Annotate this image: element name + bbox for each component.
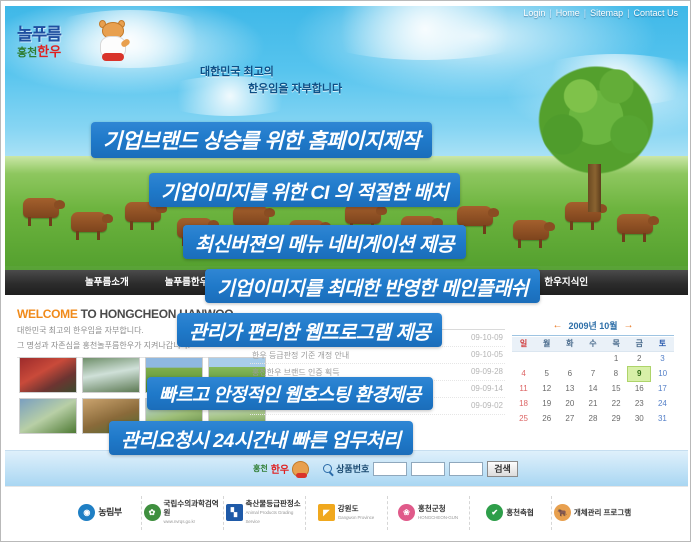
ministry-seal-icon: ◉: [78, 504, 95, 521]
partner-logo-subtitle: Gangwon Province: [338, 513, 374, 522]
calendar-widget: ← 2009년 10월 → 일 월 화 수 목 금 토: [512, 319, 674, 426]
grading-service-icon: ▚: [226, 504, 243, 521]
calendar-day[interactable]: 3: [651, 351, 674, 366]
search-icon: [323, 464, 332, 473]
calendar-week-row: 18 19 20 21 22 23 24: [512, 396, 674, 411]
calendar-day[interactable]: 12: [535, 381, 558, 396]
partner-logo-management-program[interactable]: 🐂 개체관리 프로그램: [552, 496, 634, 530]
nav-sitemap[interactable]: Sitemap: [590, 8, 623, 18]
cow-illustration: [513, 220, 549, 240]
calendar-day[interactable]: 2: [628, 351, 651, 366]
nav-separator: |: [549, 8, 551, 18]
cow-mascot-icon: 🐂: [554, 504, 571, 521]
overlay-banner-6: 빠르고 안정적인 웹호스팅 환경제공: [147, 377, 433, 410]
cow-mascot-icon: [292, 461, 309, 477]
calendar-day[interactable]: 20: [558, 396, 581, 411]
hero-slogan-line1: 대한민국 최고의: [200, 64, 342, 81]
window-frame: 대한민국 최고의 한우임을 자부합니다 Login | Home | Sitem…: [0, 0, 691, 542]
calendar-day-today[interactable]: 9: [628, 366, 651, 381]
partner-logo-label: 국립수의과학검역원www.nvrqs.go.kr: [164, 499, 221, 526]
search-label: 상품번호: [336, 462, 369, 475]
calendar-day[interactable]: [558, 351, 581, 366]
calendar-day[interactable]: 18: [512, 396, 535, 411]
calendar-day[interactable]: 31: [651, 411, 674, 426]
nav-home[interactable]: Home: [556, 8, 580, 18]
calendar-day[interactable]: 29: [605, 411, 628, 426]
partner-logo-hongcheon-chukhyup[interactable]: ✔ 홍천축협: [470, 496, 552, 530]
calendar-title: 2009년 10월: [568, 319, 617, 332]
calendar-day[interactable]: 16: [628, 381, 651, 396]
overlay-banner-7: 관리요청시 24시간내 빠른 업무처리: [109, 421, 413, 455]
calendar-day[interactable]: 13: [558, 381, 581, 396]
overlay-banner-1: 기업브랜드 상승를 위한 홈페이지제작: [91, 122, 432, 158]
calendar-day[interactable]: 27: [558, 411, 581, 426]
notice-date: 09-09-02: [465, 401, 503, 412]
calendar-day[interactable]: 14: [581, 381, 604, 396]
calendar-day[interactable]: 1: [605, 351, 628, 366]
logo-text: 놀푸름 홍천한우: [17, 26, 95, 59]
partner-logo-subtitle: Animal Products Grading Service: [246, 508, 303, 526]
partner-logo-hongcheon-gun[interactable]: ❀ 홍천군청HONGCHEON-GUN: [388, 496, 470, 530]
partner-logo-label: 농림부: [98, 508, 121, 517]
site-logo[interactable]: 놀푸름 홍천한우: [17, 15, 132, 69]
calendar-weekday-row: 일 월 화 수 목 금 토: [512, 337, 674, 351]
product-search-bar: 홍천 한우 상품번호 검색: [5, 450, 688, 486]
partner-logo-label: 개체관리 프로그램: [574, 508, 631, 517]
welcome-title-highlight: WELCOME: [17, 307, 78, 321]
calendar-week-row: 25 26 27 28 29 30 31: [512, 411, 674, 426]
search-controls: 상품번호 검색: [323, 461, 518, 477]
logo-main-text: 놀푸름: [17, 26, 95, 43]
calendar-weekday: 월: [535, 337, 558, 351]
hero-slogan: 대한민국 최고의 한우임을 자부합니다: [200, 64, 342, 98]
calendar-day[interactable]: 8: [605, 366, 628, 381]
notice-title: 한우 등급판정 기준 개정 안내: [252, 350, 349, 361]
hero-slogan-line2: 한우임을 자부합니다: [248, 81, 342, 98]
calendar-week-row: 1 2 3: [512, 351, 674, 366]
calendar-day[interactable]: [535, 351, 558, 366]
utility-nav: Login | Home | Sitemap | Contact Us: [523, 8, 678, 18]
partner-logo-label: 강원도Gangwon Province: [338, 504, 374, 522]
nav-login[interactable]: Login: [523, 8, 545, 18]
calendar-day[interactable]: 22: [605, 396, 628, 411]
calendar-day[interactable]: 26: [535, 411, 558, 426]
logo-sub-left: 홍천: [17, 47, 37, 59]
calendar-weekday: 토: [651, 337, 674, 351]
calendar-day[interactable]: 28: [581, 411, 604, 426]
calendar-day[interactable]: 15: [605, 381, 628, 396]
chukhyup-icon: ✔: [486, 504, 503, 521]
partner-logo-label: 축산물등급판정소Animal Products Grading Service: [246, 499, 303, 526]
calendar-day[interactable]: 11: [512, 381, 535, 396]
product-number-input-1[interactable]: [373, 462, 407, 476]
calendar-weekday: 금: [628, 337, 651, 351]
nav-item-intro[interactable]: 놀푸름소개: [67, 270, 147, 295]
cow-mascot-icon: [96, 22, 130, 62]
calendar-day[interactable]: 17: [651, 381, 674, 396]
tree-canopy: [532, 60, 660, 180]
calendar-week-row: 11 12 13 14 15 16 17: [512, 381, 674, 396]
calendar-day[interactable]: 19: [535, 396, 558, 411]
partner-logos-footer: ◉ 농림부 ✿ 국립수의과학검역원www.nvrqs.go.kr ▚ 축산물등급…: [5, 486, 688, 538]
partner-logo-nongrimbu[interactable]: ◉ 농림부: [60, 496, 142, 530]
notice-date: 09-09-28: [465, 367, 503, 378]
cow-illustration: [71, 212, 107, 232]
logo-sub-right: 한우: [37, 44, 61, 59]
calendar-day[interactable]: 4: [512, 366, 535, 381]
nav-separator: |: [627, 8, 629, 18]
overlay-banner-2: 기업이미지를 위한 CI 의 적절한 배치: [149, 173, 460, 207]
calendar-day[interactable]: 21: [581, 396, 604, 411]
calendar-day[interactable]: 23: [628, 396, 651, 411]
nav-contact-us[interactable]: Contact Us: [633, 8, 678, 18]
cow-illustration: [345, 204, 381, 224]
product-number-input-3[interactable]: [449, 462, 483, 476]
calendar-day[interactable]: 7: [581, 366, 604, 381]
calendar-day[interactable]: [512, 351, 535, 366]
calendar-day[interactable]: [581, 351, 604, 366]
partner-logo-gangwon[interactable]: ◤ 강원도Gangwon Province: [306, 496, 388, 530]
tree-illustration: [532, 60, 660, 208]
calendar-weekday: 화: [558, 337, 581, 351]
gallery-thumbnail[interactable]: [19, 398, 77, 434]
cow-illustration: [23, 198, 59, 218]
partner-logo-nvrqs[interactable]: ✿ 국립수의과학검역원www.nvrqs.go.kr: [142, 496, 224, 530]
hongcheon-emblem-icon: ❀: [398, 504, 415, 521]
partner-logo-label: 홍천군청HONGCHEON-GUN: [418, 504, 458, 522]
gallery-thumbnail[interactable]: [82, 357, 140, 393]
calendar-day[interactable]: 30: [628, 411, 651, 426]
partner-logo-url: www.nvrqs.go.kr: [164, 517, 221, 526]
cow-illustration: [233, 206, 269, 226]
tree-trunk: [588, 164, 601, 212]
cloud-decoration: [305, 6, 545, 60]
brand-mini-logo: 홍천 한우: [253, 461, 309, 477]
calendar-day[interactable]: 6: [558, 366, 581, 381]
gangwon-emblem-icon: ◤: [318, 504, 335, 521]
overlay-banner-4: 기업이미지를 최대한 반영한 메인플래쉬: [205, 269, 540, 303]
notice-date: 09-10-09: [465, 333, 503, 344]
product-number-input-2[interactable]: [411, 462, 445, 476]
calendar-weekday: 수: [581, 337, 604, 351]
partner-logo-subtitle: HONGCHEON-GUN: [418, 513, 458, 522]
cow-illustration: [617, 214, 653, 234]
brand-mini-right: 한우: [271, 461, 289, 476]
nav-separator: |: [584, 8, 586, 18]
calendar-next-arrow-icon[interactable]: →: [624, 320, 634, 331]
calendar-weekday: 일: [512, 337, 535, 351]
calendar-weekday: 목: [605, 337, 628, 351]
calendar-header: ← 2009년 10월 →: [512, 319, 674, 336]
quarantine-seal-icon: ✿: [144, 504, 161, 521]
calendar-day[interactable]: 5: [535, 366, 558, 381]
calendar-week-row: 4 5 6 7 8 9 10: [512, 366, 674, 381]
calendar-prev-arrow-icon[interactable]: ←: [552, 320, 562, 331]
brand-mini-left: 홍천: [253, 463, 268, 474]
notice-date: 09-10-05: [465, 350, 503, 361]
calendar-table: 일 월 화 수 목 금 토 1: [512, 337, 674, 426]
partner-logo-grading-service[interactable]: ▚ 축산물등급판정소Animal Products Grading Servic…: [224, 496, 306, 530]
page-root: 대한민국 최고의 한우임을 자부합니다 Login | Home | Sitem…: [0, 0, 691, 542]
cow-illustration: [457, 206, 493, 226]
calendar-day[interactable]: 10: [651, 366, 674, 381]
overlay-banner-5: 관리가 편리한 웹프로그램 제공: [177, 313, 442, 347]
search-button[interactable]: 검색: [487, 461, 518, 477]
calendar-day[interactable]: 25: [512, 411, 535, 426]
overlay-banner-3: 최신버젼의 메뉴 네비게이션 제공: [183, 225, 466, 259]
notice-date: 09-09-14: [465, 384, 503, 395]
calendar-day[interactable]: 24: [651, 396, 674, 411]
gallery-thumbnail[interactable]: [19, 357, 77, 393]
partner-logo-label: 홍천축협: [506, 508, 534, 517]
logo-sub-text: 홍천한우: [17, 45, 95, 59]
notice-row[interactable]: 한우 등급판정 기준 개정 안내 09-10-05: [250, 347, 505, 364]
